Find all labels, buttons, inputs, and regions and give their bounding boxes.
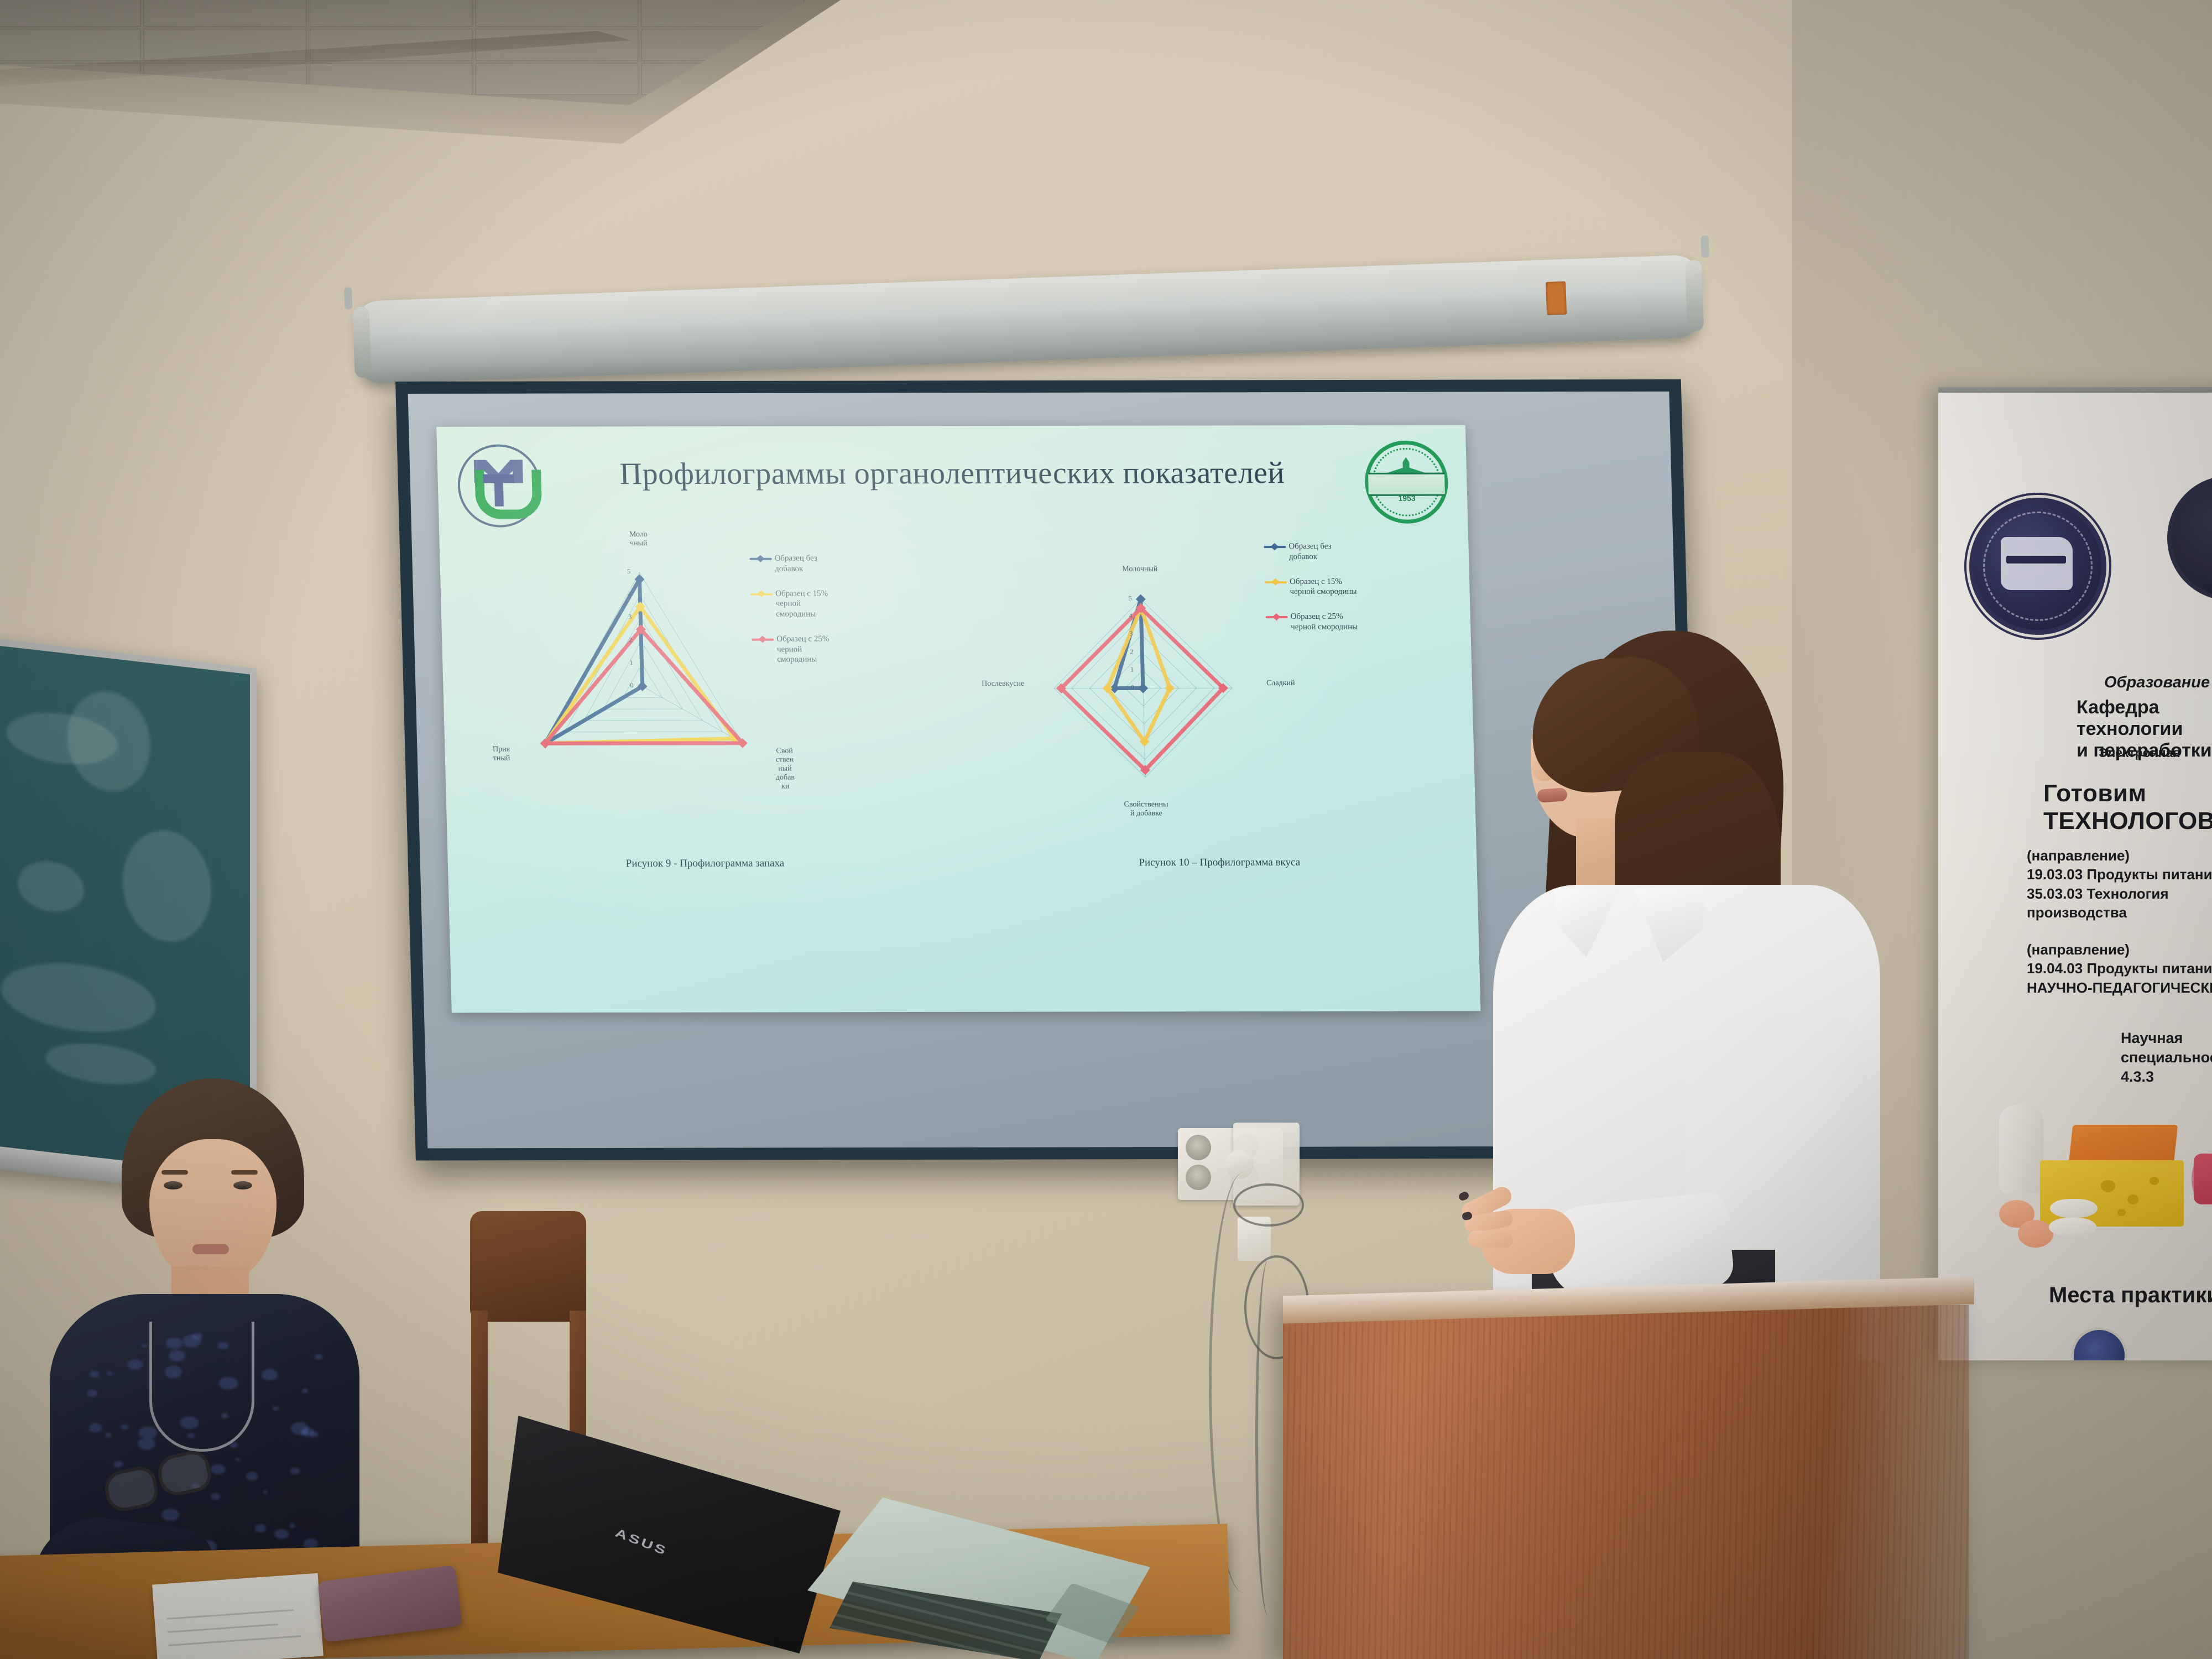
slide-title: Профилограммы органолептических показате… <box>548 455 1357 492</box>
chalk-smudge <box>1 956 156 1040</box>
charts-area: Моло чныйСвой ствен ный добав киПрия тны… <box>440 547 1480 1008</box>
seated-necklace <box>149 1322 254 1452</box>
lace-detail <box>301 1427 314 1437</box>
curd-image-2 <box>2049 1218 2096 1237</box>
roller-hook-left <box>344 287 352 309</box>
radar-tick-label: 4 <box>1129 612 1132 620</box>
seated-eyebrow-right <box>231 1170 258 1175</box>
lace-detail <box>290 1468 299 1474</box>
banner-practice-label: Места практики <box>2049 1283 2212 1308</box>
lace-detail <box>274 1529 289 1539</box>
legend-item: Образец без добавок <box>1264 541 1356 562</box>
lace-detail <box>235 1458 240 1462</box>
legend-item: Образец с 15% черной смородины <box>1265 576 1357 597</box>
lace-detail <box>255 1524 267 1532</box>
seated-face <box>149 1139 276 1283</box>
radar-tick-label: 0 <box>1131 684 1134 692</box>
banner-top-rail <box>1938 387 2212 393</box>
roller-cap-left <box>352 306 371 378</box>
radar-tick-label: 1 <box>629 659 633 667</box>
egg-image-2 <box>2018 1220 2053 1248</box>
wooden-podium <box>1283 1305 1969 1659</box>
seated-eye-right <box>233 1181 252 1190</box>
roller-cap-right <box>1685 260 1704 331</box>
seated-eyebrow-left <box>161 1170 188 1175</box>
legend-marker-icon <box>749 555 771 562</box>
lace-detail <box>262 1369 278 1380</box>
presenter-gesturing-hand <box>1459 1178 1597 1283</box>
lecture-hall-scene: 1953 Профилограммы органолептических пок… <box>0 0 2212 1659</box>
radar-axis-line <box>643 686 743 743</box>
radar-chart-taste: МолочныйСладкийСвойственны й добавкеПосл… <box>1050 597 1237 779</box>
lace-detail <box>90 1371 99 1378</box>
radar-tick-label: 5 <box>1129 594 1132 603</box>
banner-partner-logo-icon <box>2071 1327 2127 1360</box>
radar-axis-label: Прия тный <box>473 745 529 763</box>
lace-detail <box>89 1423 102 1432</box>
legend-marker-icon <box>1265 578 1287 586</box>
mgutu-logo-icon <box>457 445 542 528</box>
legend-marker-icon <box>752 635 774 643</box>
caption-figure-10: Рисунок 10 – Профилограмма вкуса <box>962 856 1477 869</box>
radar-tick-label: 0 <box>630 681 633 690</box>
radar-svg <box>1050 597 1237 779</box>
lace-detail <box>142 1344 147 1348</box>
presenter-mouth <box>1537 787 1568 803</box>
radar-tick-label: 1 <box>1130 665 1134 674</box>
legend-label: Образец с 25% черной смородины <box>776 634 830 665</box>
laptop-lid <box>498 1416 841 1653</box>
radar-series-polygon <box>541 580 644 744</box>
sausage-image <box>2194 1154 2212 1204</box>
roller-label-sticker <box>1546 281 1567 315</box>
lace-detail <box>161 1509 179 1521</box>
radar-axis-label: Сладкий <box>1253 679 1308 688</box>
lace-detail <box>263 1490 268 1494</box>
radar-tick-label: 3 <box>1129 630 1133 638</box>
radar-series-marker <box>1138 683 1148 693</box>
radar-axis-label: Свойственны й добавке <box>1118 800 1174 818</box>
lace-detail <box>139 1427 157 1439</box>
legend-taste: Образец без добавокОбразец с 15% черной … <box>1264 541 1358 647</box>
caption-figure-9: Рисунок 9 - Профилограмма запаха <box>448 857 963 870</box>
legend-marker-icon <box>750 590 773 597</box>
banner-electro-label: Электронная <box>2099 745 2180 760</box>
radar-axis-label: Свой ствен ный добав ки <box>757 747 813 791</box>
chart-block-taste: МолочныйСладкийСвойственны й добавкеПосл… <box>954 547 1480 1006</box>
radar-tick-label: 5 <box>627 567 630 576</box>
roll-up-banner: Образование Кафедра технологии и перераб… <box>1938 387 2212 1360</box>
lace-detail <box>138 1438 155 1450</box>
asus-laptop[interactable]: ASUS <box>498 1416 1217 1659</box>
radar-series-polygon <box>541 607 734 744</box>
lace-detail <box>211 1493 220 1500</box>
radar-axis-label: Молочный <box>1112 565 1167 573</box>
lace-detail <box>105 1433 112 1437</box>
banner-program-group-2: (направление) 19.04.03 Продукты питания … <box>2027 940 2212 997</box>
legend-label: Образец с 15% черной смородины <box>775 588 828 619</box>
legend-odor: Образец без добавокОбразец с 15% черной … <box>749 554 830 680</box>
lace-detail <box>302 1389 308 1393</box>
power-cable-2 <box>1255 1261 1280 1615</box>
lace-detail <box>127 1359 143 1370</box>
lace-detail <box>107 1371 112 1375</box>
legend-item: Образец с 25% черной смородины <box>1265 612 1358 633</box>
lace-detail <box>121 1425 128 1430</box>
legend-label: Образец с 25% черной смородины <box>1290 612 1358 633</box>
radar-axis-label: Моло чный <box>611 530 666 548</box>
university-seal-icon: 1953 <box>1364 441 1449 524</box>
institute-emblem-icon <box>1969 498 2106 635</box>
legend-label: Образец без добавок <box>1288 541 1332 562</box>
lace-detail <box>87 1390 97 1397</box>
radar-axis-label: Послевкусие <box>975 680 1030 688</box>
paper-sheet[interactable] <box>152 1573 324 1659</box>
milk-bottle-image <box>1999 1105 2043 1193</box>
curd-image-1 <box>2050 1199 2098 1218</box>
legend-marker-icon <box>1266 613 1288 620</box>
radar-axis-line <box>1143 688 1145 777</box>
presentation-slide: 1953 Профилограммы органолептических пок… <box>436 425 1480 1013</box>
chart-block-odor: Моло чныйСвой ствен ный добав киПрия тны… <box>440 547 966 1007</box>
radar-tick-label: 2 <box>1130 648 1133 656</box>
cable-loop-1 <box>1233 1183 1304 1227</box>
legend-marker-icon <box>1264 543 1286 550</box>
lace-detail <box>315 1354 322 1360</box>
radar-tick-label: 4 <box>628 590 631 598</box>
roller-hook-right <box>1700 236 1709 258</box>
presenter-person <box>1449 625 1902 1360</box>
banner-headline: Готовим ТЕХНОЛОГОВ <box>2043 780 2212 835</box>
legend-item: Образец без добавок <box>749 554 827 575</box>
legend-item: Образец с 15% черной смородины <box>750 588 828 619</box>
chalk-smudge <box>123 826 211 946</box>
legend-item: Образец с 25% черной смородины <box>752 634 830 665</box>
radar-tick-label: 2 <box>629 636 632 644</box>
radar-svg <box>523 570 761 803</box>
chalk-smudge <box>18 858 84 915</box>
seated-eye-left <box>164 1181 182 1190</box>
seated-mouth <box>192 1244 229 1254</box>
radar-tick-label: 3 <box>628 613 632 622</box>
lace-detail <box>289 1524 295 1528</box>
chalk-smudge <box>67 687 150 796</box>
banner-program-group-1: (направление) 19.03.03 Продукты питания … <box>2027 846 2212 922</box>
radar-chart-odor: Моло чныйСвой ствен ный добав киПрия тны… <box>523 570 761 803</box>
legend-label: Образец без добавок <box>774 554 817 575</box>
lace-detail <box>246 1472 258 1480</box>
banner-science-specialty: Научная специальность 4.3.3 <box>2121 1029 2212 1087</box>
banner-education-label: Образование <box>2104 674 2210 692</box>
legend-label: Образец с 15% черной смородины <box>1290 576 1357 597</box>
banner-secondary-seal-icon <box>2167 476 2212 601</box>
seal-year-label: 1953 <box>1365 494 1448 503</box>
banner-food-photo <box>1999 1095 2212 1261</box>
lace-detail <box>273 1406 279 1411</box>
lace-detail <box>211 1464 225 1474</box>
